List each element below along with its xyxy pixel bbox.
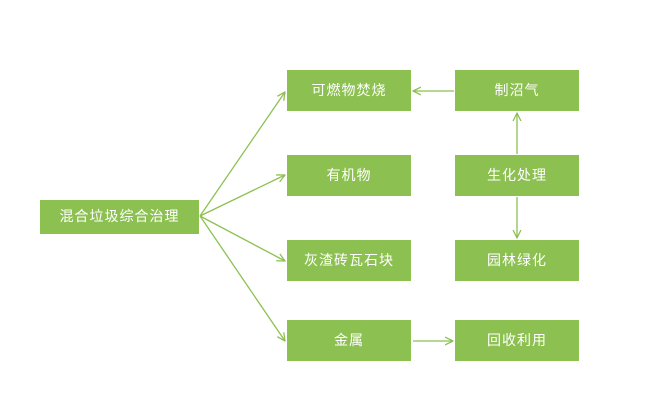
- node-recycling-reuse[interactable]: 回收利用: [455, 320, 579, 361]
- node-landscape-greening-label: 园林绿化: [487, 254, 547, 268]
- node-biochemical-treatment-label: 生化处理: [487, 169, 547, 183]
- node-biogas-production-label: 制沼气: [495, 84, 540, 98]
- node-metal[interactable]: 金属: [287, 320, 411, 361]
- node-root[interactable]: 混合垃圾综合治理: [40, 200, 199, 234]
- node-organic-matter-label: 有机物: [327, 169, 372, 183]
- node-ash-brick-tile-stone-label: 灰渣砖瓦石块: [304, 254, 394, 268]
- edge-root-to-metal: [200, 216, 285, 341]
- edge-root-to-ash: [200, 216, 285, 261]
- node-biochemical-treatment[interactable]: 生化处理: [455, 155, 579, 196]
- node-recycling-reuse-label: 回收利用: [487, 334, 547, 348]
- edge-root-to-burn: [200, 92, 285, 216]
- node-ash-brick-tile-stone[interactable]: 灰渣砖瓦石块: [287, 240, 411, 281]
- diagram-canvas: 混合垃圾综合治理 可燃物焚烧 有机物 灰渣砖瓦石块 金属 制沼气 生化处理 园林…: [0, 0, 648, 416]
- node-biogas-production[interactable]: 制沼气: [455, 70, 579, 111]
- node-combustible-incineration[interactable]: 可燃物焚烧: [287, 70, 411, 111]
- node-metal-label: 金属: [334, 334, 364, 348]
- node-organic-matter[interactable]: 有机物: [287, 155, 411, 196]
- node-landscape-greening[interactable]: 园林绿化: [455, 240, 579, 281]
- node-root-label: 混合垃圾综合治理: [60, 210, 180, 224]
- edge-root-to-organic: [200, 175, 285, 216]
- node-combustible-incineration-label: 可燃物焚烧: [312, 84, 387, 98]
